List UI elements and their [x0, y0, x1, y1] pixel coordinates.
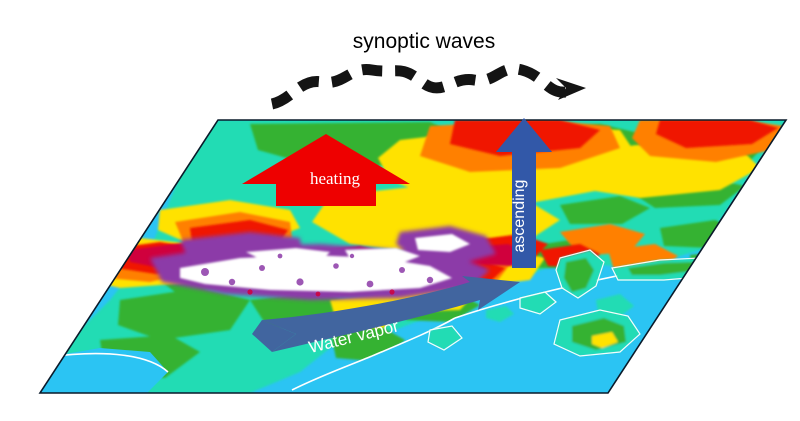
- heating-label: heating: [310, 169, 361, 188]
- figure-canvas: synoptic waves heating ascending Water v…: [0, 0, 800, 421]
- synoptic-waves-label: synoptic waves: [353, 30, 495, 53]
- diagram-svg: synoptic waves heating ascending Water v…: [0, 0, 800, 421]
- ascending-label: ascending: [511, 180, 528, 253]
